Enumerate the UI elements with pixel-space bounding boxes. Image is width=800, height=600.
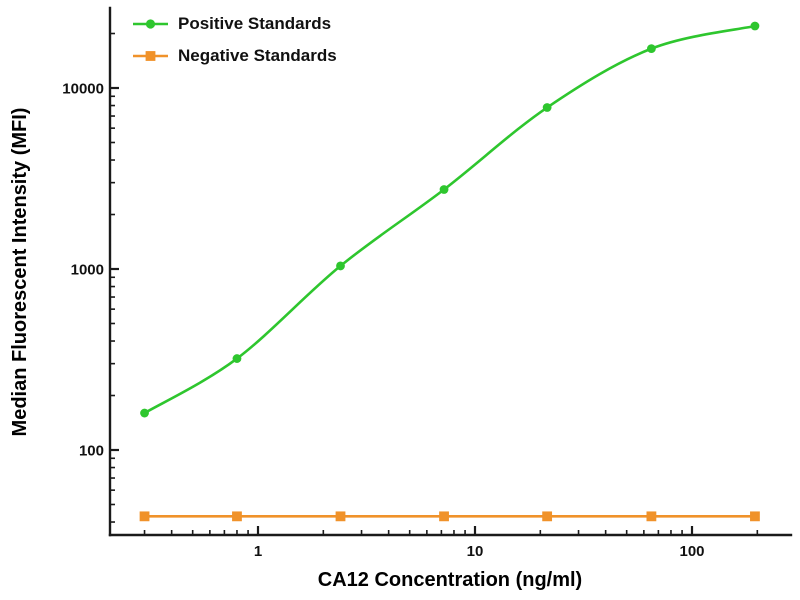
data-point-marker — [440, 185, 449, 194]
legend-label-negative-standards: Negative Standards — [178, 46, 337, 65]
data-point-marker — [233, 354, 242, 363]
series-negative-standards — [140, 512, 759, 521]
data-point-marker — [751, 512, 760, 521]
x-tick-label: 10 — [467, 543, 484, 560]
data-point-marker — [543, 512, 552, 521]
data-point-marker — [751, 22, 760, 31]
chart-container: Median Fluorescent Intensity (MFI) CA12 … — [0, 0, 800, 600]
x-tick-label: 100 — [679, 543, 704, 560]
y-axis-title: Median Fluorescent Intensity (MFI) — [9, 108, 31, 437]
legend-item-negative-standards[interactable]: Negative Standards — [133, 46, 337, 65]
y-axis-tick-labels: 100100010000 — [62, 81, 104, 460]
series-positive-standards — [140, 22, 759, 418]
x-tick-label: 1 — [254, 543, 262, 560]
legend-marker-square-icon — [146, 51, 156, 61]
data-point-marker — [233, 512, 242, 521]
x-axis-ticks — [145, 526, 758, 535]
chart-legend: Positive Standards Negative Standards — [133, 14, 337, 65]
data-point-marker — [647, 44, 656, 53]
data-point-marker — [336, 512, 345, 521]
data-point-marker — [543, 103, 552, 112]
legend-label-positive-standards: Positive Standards — [178, 14, 331, 33]
legend-item-positive-standards[interactable]: Positive Standards — [133, 14, 331, 33]
data-point-marker — [336, 262, 345, 271]
data-point-marker — [440, 512, 449, 521]
data-point-marker — [140, 409, 149, 418]
data-point-marker — [140, 512, 149, 521]
legend-marker-circle-icon — [146, 19, 155, 28]
y-tick-label: 10000 — [62, 81, 104, 98]
data-point-marker — [647, 512, 656, 521]
data-series-layer — [140, 22, 759, 521]
y-tick-label: 100 — [79, 443, 104, 460]
y-axis-ticks — [110, 34, 119, 523]
y-tick-label: 1000 — [71, 262, 104, 279]
x-axis-title: CA12 Concentration (ng/ml) — [318, 569, 582, 591]
x-axis-tick-labels: 110100 — [254, 543, 705, 560]
standard-curve-chart: Median Fluorescent Intensity (MFI) CA12 … — [0, 0, 800, 600]
